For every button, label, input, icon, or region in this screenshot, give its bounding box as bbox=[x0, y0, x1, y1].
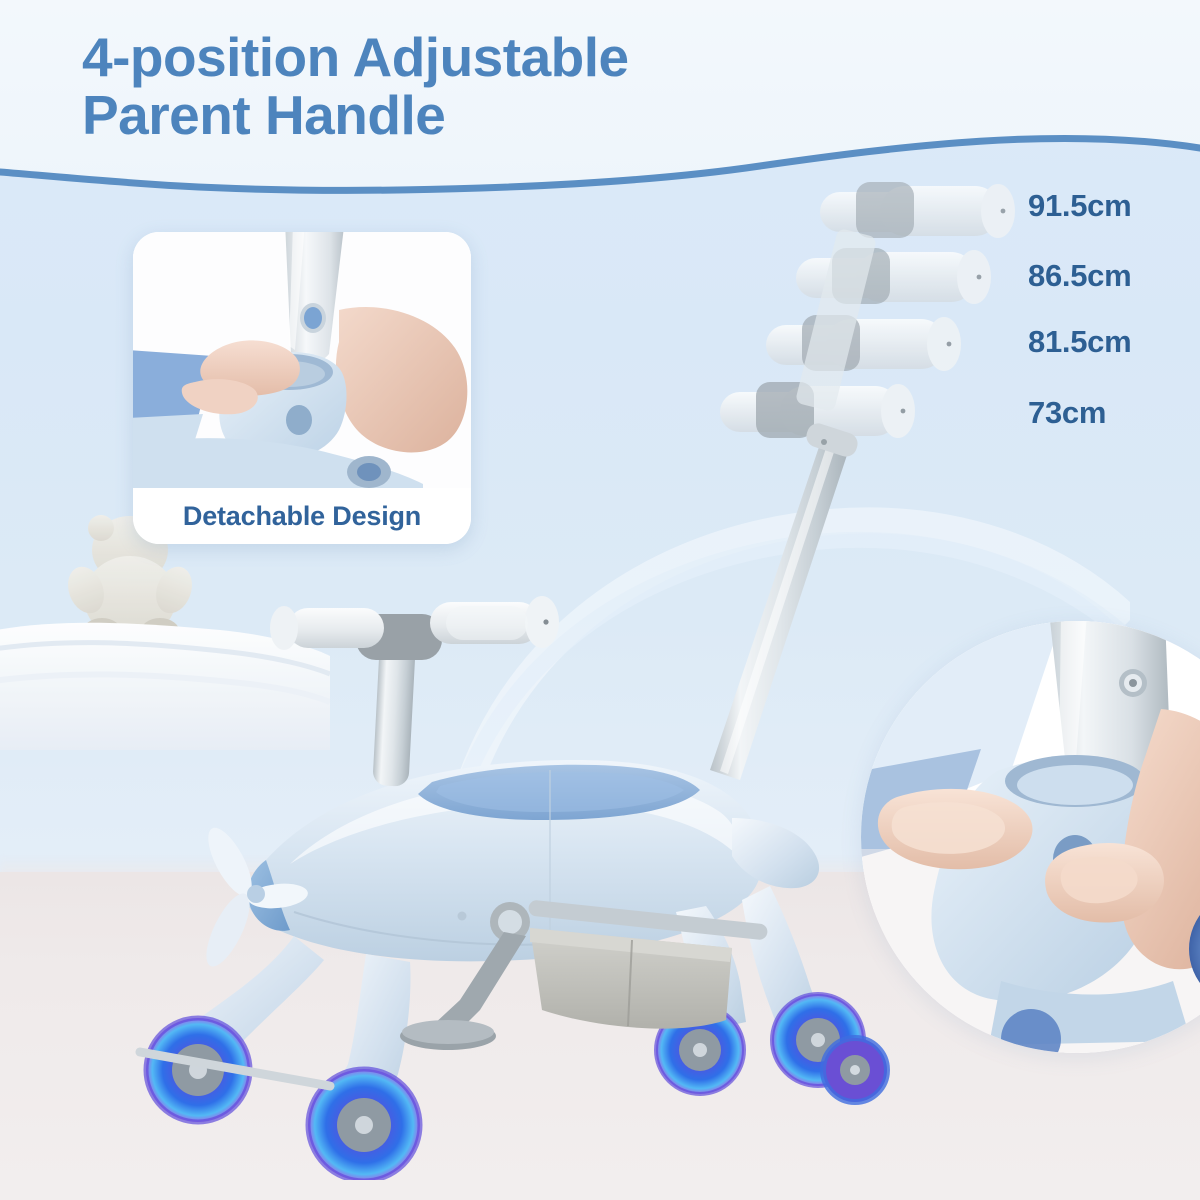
product-marketing-image: 4-position Adjustable Parent Handle 91.5… bbox=[0, 0, 1200, 1200]
parent-handle-pole bbox=[710, 421, 860, 780]
page-headline: 4-position Adjustable Parent Handle bbox=[82, 28, 982, 145]
handle-position-81-5cm bbox=[766, 315, 961, 371]
measurement-label-91-5cm: 91.5cm bbox=[1028, 188, 1131, 224]
handle-position-ghosts bbox=[720, 182, 1015, 438]
measurement-label-81-5cm: 81.5cm bbox=[1028, 324, 1131, 360]
handle-attach-inset bbox=[861, 621, 1200, 1053]
hands-detaching-handle-illustration bbox=[133, 232, 471, 490]
child-handlebar bbox=[270, 596, 559, 787]
screw-icon bbox=[1129, 679, 1137, 687]
detachable-design-caption: Detachable Design bbox=[133, 488, 471, 544]
detachable-inset-photo bbox=[133, 232, 471, 490]
header-band: 4-position Adjustable Parent Handle bbox=[0, 0, 1200, 200]
measurement-label-86-5cm: 86.5cm bbox=[1028, 258, 1131, 294]
wheel-peek-decor bbox=[820, 1035, 890, 1105]
release-button-icon bbox=[304, 307, 322, 329]
hand-inserting-pole-illustration bbox=[861, 621, 1200, 1053]
detachable-design-inset: Detachable Design bbox=[133, 232, 471, 544]
measurement-label-73cm: 73cm bbox=[1028, 395, 1106, 431]
